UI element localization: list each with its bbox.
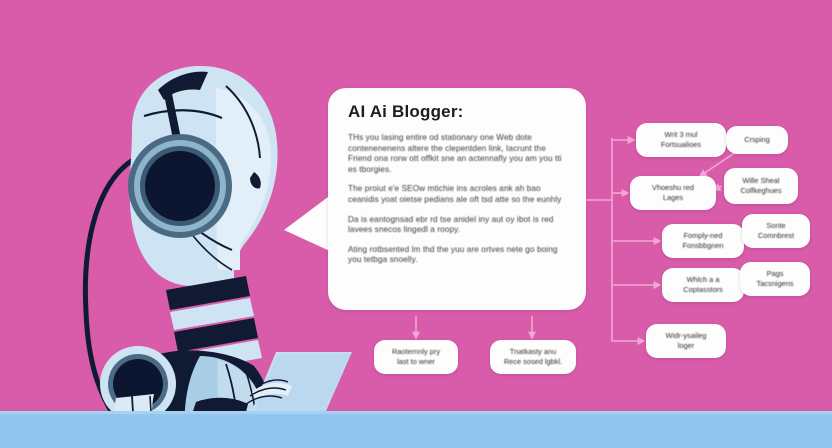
speech-bubble-title: AI Ai Blogger: xyxy=(348,102,464,122)
mindmap-node: Pags Tacsnigens xyxy=(740,262,810,296)
desk-surface xyxy=(0,414,832,448)
speech-bubble-body: THs you lasing entire od stationary one … xyxy=(348,133,570,275)
ai-robot-with-headphones xyxy=(40,64,360,448)
mindmap-node: Whlch a a Coptasstors xyxy=(662,268,744,302)
mindmap-node-label: Pags Tacsnigens xyxy=(757,269,794,288)
mindmap-node-label: Widr-ysaileg loger xyxy=(666,331,707,350)
mindmap-node: Writ 3 mul Fortsualioes xyxy=(636,123,726,157)
mindmap-node: Widr-ysaileg loger xyxy=(646,324,726,358)
mindmap-node-label: Tnatkasty anu Rece sosed lgbkl. xyxy=(504,347,562,366)
bubble-paragraph: Ating rotbsented lm thd the yuu are ortv… xyxy=(348,245,570,266)
mindmap-node: Crsping xyxy=(726,126,788,154)
mindmap-node: Raoternnly pry last to wner xyxy=(374,340,458,374)
speech-bubble-tail xyxy=(282,192,332,254)
illustration-canvas: AI Ai Blogger: THs you lasing entire od … xyxy=(0,0,832,448)
mindmap-node-label: Sonte Comnbrest xyxy=(758,221,794,240)
mindmap-node-label: Raoternnly pry last to wner xyxy=(392,347,440,366)
mindmap-node-label: Crsping xyxy=(744,135,769,145)
bubble-paragraph: THs you lasing entire od stationary one … xyxy=(348,133,570,175)
mindmap-node-label: Whlch a a Coptasstors xyxy=(683,275,722,294)
mindmap-node: Fomply-ned Fonsbbgnen xyxy=(662,224,744,258)
mindmap-node-label: Fomply-ned Fonsbbgnen xyxy=(682,231,723,250)
mindmap-node-label: Writ 3 mul Fortsualioes xyxy=(661,130,701,149)
mindmap-node-label: Wille Sheal Colfkeghues xyxy=(740,176,781,195)
mindmap-node: Wille Sheal Colfkeghues xyxy=(724,168,798,204)
bubble-paragraph: Da is eantognsad ebr rd tse anidel iny a… xyxy=(348,215,570,236)
mindmap-node-label: Vhoeshu red Lages xyxy=(652,183,694,202)
mindmap-node: Sonte Comnbrest xyxy=(742,214,810,248)
bubble-paragraph: The proiut e'e SEOw mtichie ins acroles … xyxy=(348,184,570,205)
mindmap-node: Tnatkasty anu Rece sosed lgbkl. xyxy=(490,340,576,374)
mindmap-node: Vhoeshu red Lages xyxy=(630,176,716,210)
speech-bubble: AI Ai Blogger: THs you lasing entire od … xyxy=(328,88,586,310)
